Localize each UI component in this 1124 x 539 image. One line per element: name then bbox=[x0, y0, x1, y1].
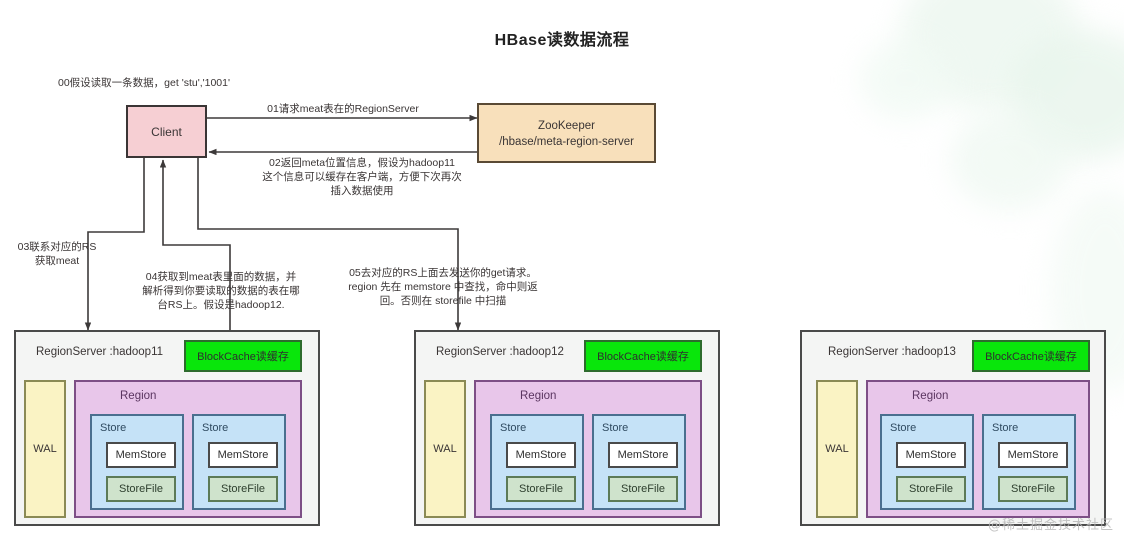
annotation-step-01: 01请求meat表在的RegionServer bbox=[248, 102, 438, 116]
zookeeper-node[interactable]: ZooKeeper /hbase/meta-region-server bbox=[477, 103, 656, 163]
memstore-box[interactable]: MemStore bbox=[506, 442, 576, 468]
wal-box[interactable]: WAL bbox=[816, 380, 858, 518]
store-label: Store bbox=[202, 422, 228, 434]
blockcache-box[interactable]: BlockCache读缓存 bbox=[972, 340, 1090, 372]
store-label: Store bbox=[602, 422, 628, 434]
zookeeper-path: /hbase/meta-region-server bbox=[479, 134, 654, 150]
store-box[interactable]: Store MemStore StoreFile bbox=[982, 414, 1076, 510]
page-title: HBase读数据流程 bbox=[0, 26, 1124, 50]
zookeeper-name: ZooKeeper bbox=[479, 118, 654, 134]
client-label: Client bbox=[128, 125, 205, 139]
annotation-step-02: 02返回meta位置信息，假设为hadoop11 这个信息可以缓存在客户端，方便… bbox=[234, 156, 490, 198]
regionserver-title: RegionServer :hadoop11 bbox=[36, 346, 163, 358]
region-box[interactable]: Region Store MemStore StoreFile Store Me… bbox=[74, 380, 302, 518]
background-decoration bbox=[900, 0, 1080, 110]
store-label: Store bbox=[500, 422, 526, 434]
store-box[interactable]: Store MemStore StoreFile bbox=[90, 414, 184, 510]
background-decoration bbox=[860, 40, 950, 120]
watermark: @稀土掘金技术社区 bbox=[988, 514, 1114, 533]
storefile-box[interactable]: StoreFile bbox=[106, 476, 176, 502]
zookeeper-label: ZooKeeper /hbase/meta-region-server bbox=[479, 118, 654, 150]
regionserver-title: RegionServer :hadoop12 bbox=[436, 346, 564, 358]
storefile-box[interactable]: StoreFile bbox=[208, 476, 278, 502]
annotation-step-05: 05去对应的RS上面去发送你的get请求。 region 先在 memstore… bbox=[338, 266, 548, 308]
regionserver-title: RegionServer :hadoop13 bbox=[828, 346, 956, 358]
storefile-box[interactable]: StoreFile bbox=[506, 476, 576, 502]
store-box[interactable]: Store MemStore StoreFile bbox=[592, 414, 686, 510]
blockcache-box[interactable]: BlockCache读缓存 bbox=[184, 340, 302, 372]
client-node[interactable]: Client bbox=[126, 105, 207, 158]
memstore-box[interactable]: MemStore bbox=[896, 442, 966, 468]
annotation-step-04: 04获取到meat表里面的数据，并 解析得到你要读取的数据的表在哪 台RS上。假… bbox=[126, 270, 316, 312]
region-box[interactable]: Region Store MemStore StoreFile Store Me… bbox=[866, 380, 1090, 518]
storefile-box[interactable]: StoreFile bbox=[998, 476, 1068, 502]
store-label: Store bbox=[992, 422, 1018, 434]
memstore-box[interactable]: MemStore bbox=[608, 442, 678, 468]
wal-box[interactable]: WAL bbox=[24, 380, 66, 518]
store-box[interactable]: Store MemStore StoreFile bbox=[490, 414, 584, 510]
region-box[interactable]: Region Store MemStore StoreFile Store Me… bbox=[474, 380, 702, 518]
diagram-canvas: HBase读数据流程 Client ZooKeeper /hbase/m bbox=[0, 0, 1124, 539]
store-box[interactable]: Store MemStore StoreFile bbox=[880, 414, 974, 510]
store-box[interactable]: Store MemStore StoreFile bbox=[192, 414, 286, 510]
regionserver-hadoop13[interactable]: RegionServer :hadoop13 BlockCache读缓存 WAL… bbox=[800, 330, 1106, 526]
store-label: Store bbox=[100, 422, 126, 434]
region-label: Region bbox=[912, 390, 948, 402]
storefile-box[interactable]: StoreFile bbox=[896, 476, 966, 502]
background-decoration bbox=[950, 110, 1070, 210]
memstore-box[interactable]: MemStore bbox=[998, 442, 1068, 468]
region-label: Region bbox=[520, 390, 556, 402]
store-label: Store bbox=[890, 422, 916, 434]
memstore-box[interactable]: MemStore bbox=[106, 442, 176, 468]
annotation-step-00: 00假设读取一条数据，get 'stu','1001' bbox=[58, 76, 230, 90]
regionserver-hadoop12[interactable]: RegionServer :hadoop12 BlockCache读缓存 WAL… bbox=[414, 330, 720, 526]
region-label: Region bbox=[120, 390, 156, 402]
blockcache-box[interactable]: BlockCache读缓存 bbox=[584, 340, 702, 372]
annotation-step-03: 03联系对应的RS 获取meat bbox=[4, 240, 110, 268]
memstore-box[interactable]: MemStore bbox=[208, 442, 278, 468]
storefile-box[interactable]: StoreFile bbox=[608, 476, 678, 502]
wal-box[interactable]: WAL bbox=[424, 380, 466, 518]
regionserver-hadoop11[interactable]: RegionServer :hadoop11 BlockCache读缓存 WAL… bbox=[14, 330, 320, 526]
